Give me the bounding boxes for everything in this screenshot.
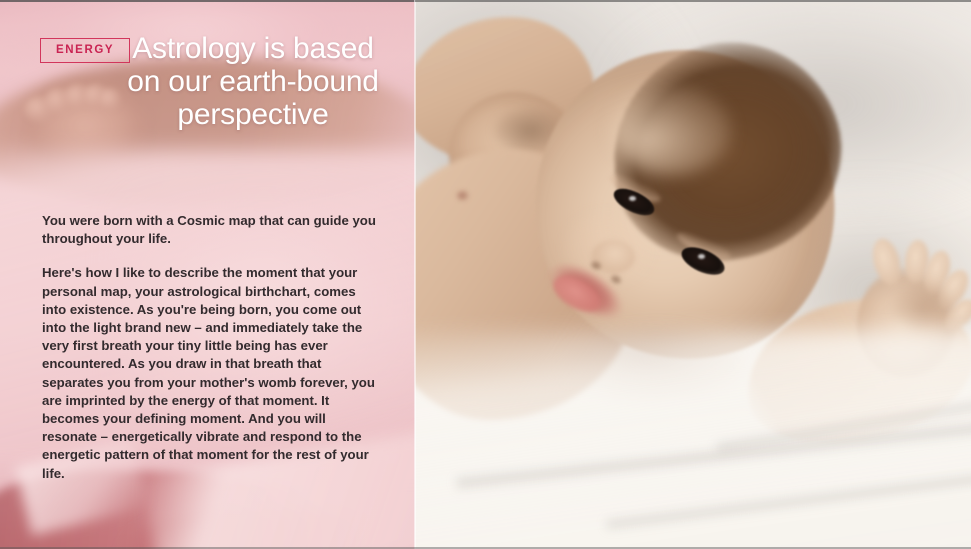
baby-chest-detail	[456, 190, 469, 201]
baby-eye-highlight	[698, 254, 705, 259]
intro-paragraph: You were born with a Cosmic map that can…	[42, 212, 376, 248]
baby-eye-highlight	[629, 196, 636, 201]
baby-forehead-highlight	[611, 86, 731, 176]
body-paragraph: Here's how I like to describe the moment…	[42, 264, 376, 482]
panel-divider	[414, 0, 416, 549]
baby-palm-shadow	[893, 282, 953, 332]
article-spread: ENERGY Astrology is based on our earth-b…	[0, 0, 971, 549]
page-title: Astrology is based on our earth-bound pe…	[118, 32, 388, 131]
top-divider-rule	[0, 0, 415, 2]
right-photo-panel	[415, 0, 971, 549]
photo-top-rule	[415, 0, 971, 2]
left-text-panel: ENERGY Astrology is based on our earth-b…	[0, 0, 415, 549]
category-badge: ENERGY	[40, 38, 130, 63]
article-body: You were born with a Cosmic map that can…	[42, 212, 376, 483]
